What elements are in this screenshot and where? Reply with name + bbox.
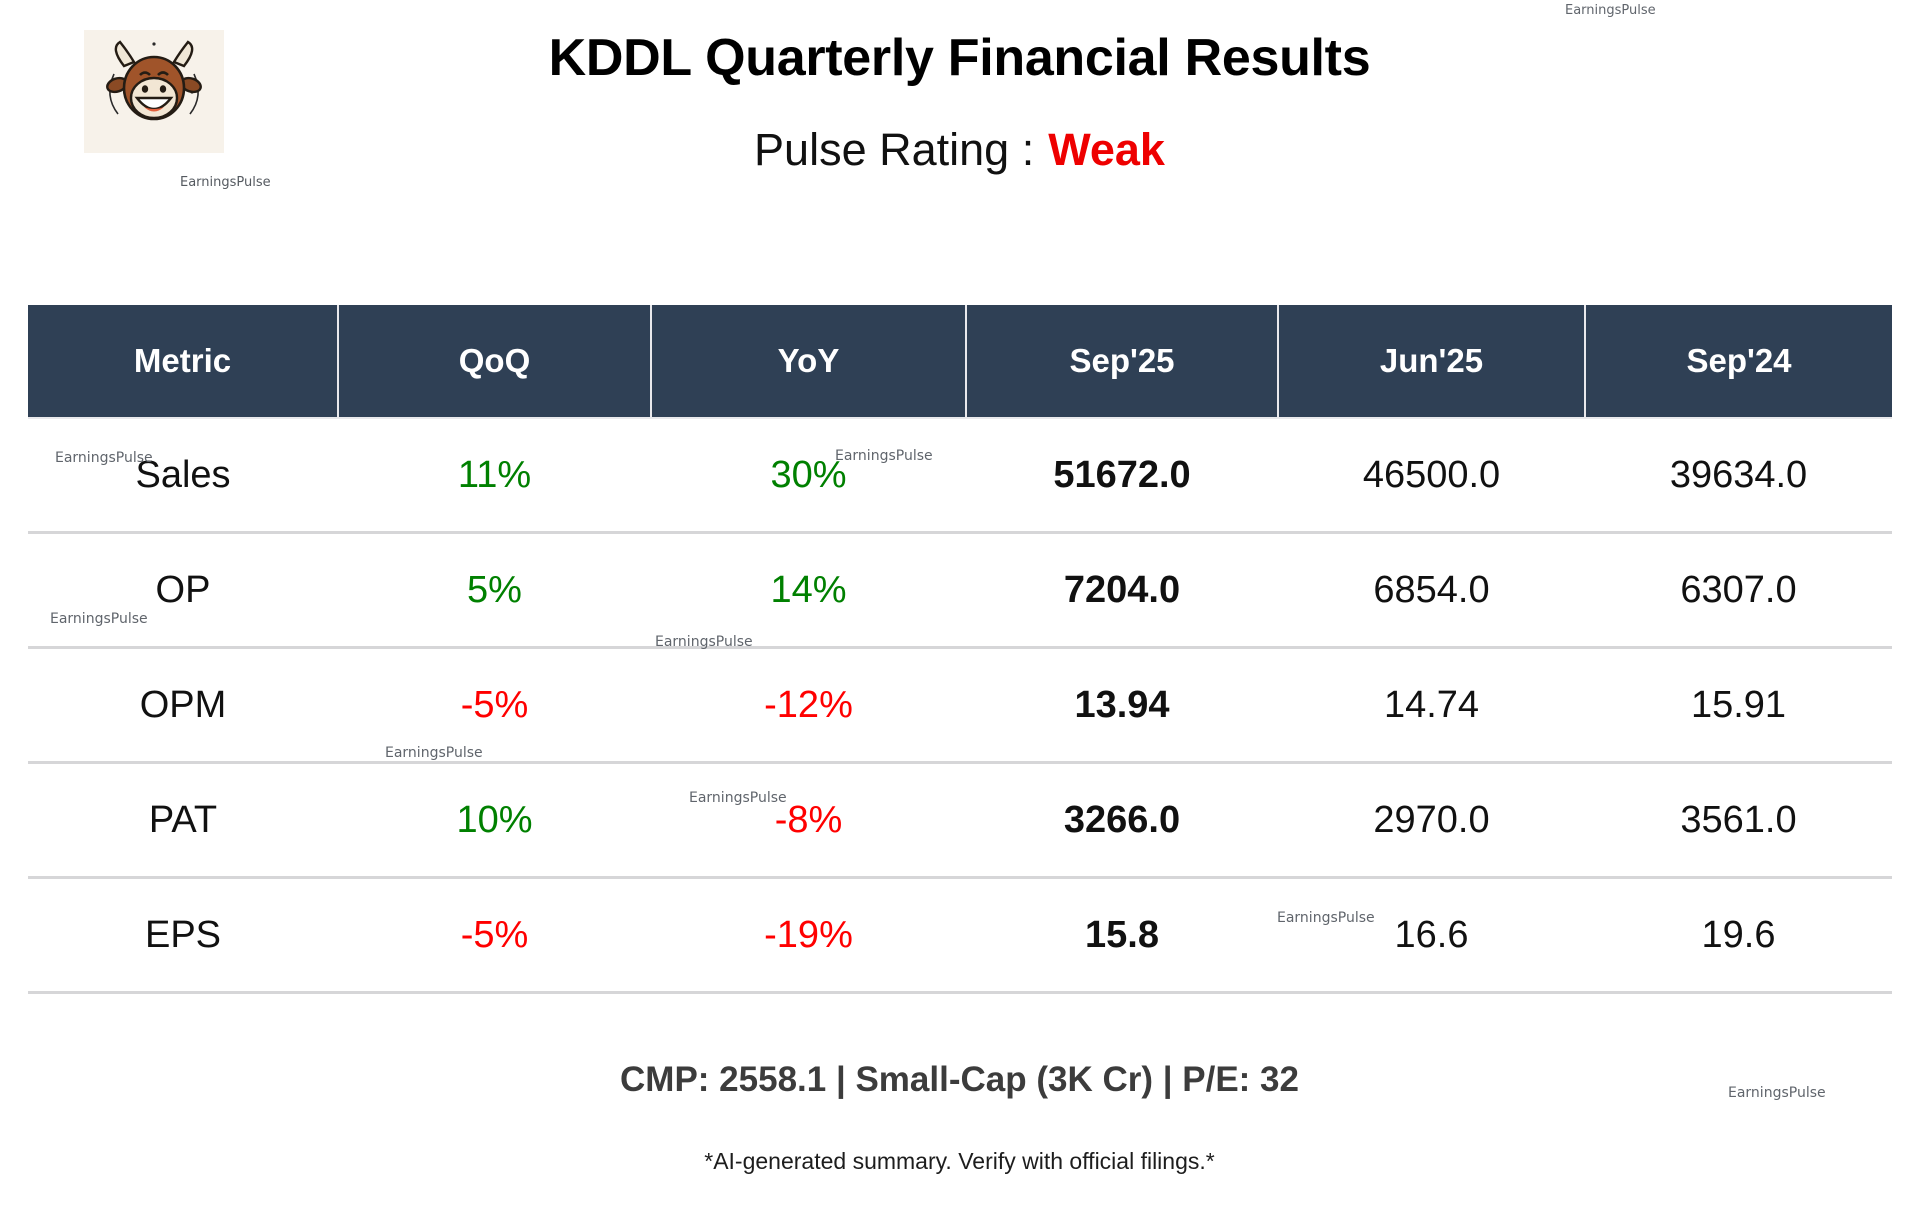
cell-year-ago: 39634.0 — [1585, 418, 1892, 533]
table-header-row: Metric QoQ YoY Sep'25 Jun'25 Sep'24 — [28, 305, 1892, 418]
table-row: EPS -5% -19% 15.8 16.6 19.6 — [28, 878, 1892, 993]
cell-year-ago: 15.91 — [1585, 648, 1892, 763]
cell-current: 7204.0 — [966, 533, 1278, 648]
cell-qoq: 10% — [338, 763, 651, 878]
cell-current: 15.8 — [966, 878, 1278, 993]
cell-previous: 16.6 — [1278, 878, 1585, 993]
column-header-sep25[interactable]: Sep'25 — [966, 305, 1278, 418]
cell-current: 3266.0 — [966, 763, 1278, 878]
table-row: OP 5% 14% 7204.0 6854.0 6307.0 — [28, 533, 1892, 648]
cell-qoq: -5% — [338, 878, 651, 993]
footer-summary: CMP: 2558.1 | Small-Cap (3K Cr) | P/E: 3… — [0, 1060, 1919, 1100]
cell-previous: 46500.0 — [1278, 418, 1585, 533]
pulse-rating-value: Weak — [1048, 124, 1165, 175]
column-header-qoq[interactable]: QoQ — [338, 305, 651, 418]
cell-yoy: -12% — [651, 648, 966, 763]
watermark-0: EarningsPulse — [1565, 3, 1656, 18]
column-header-yoy[interactable]: YoY — [651, 305, 966, 418]
pulse-rating-line: Pulse Rating :Weak — [0, 124, 1919, 176]
cell-metric: OP — [28, 533, 338, 648]
cell-qoq: -5% — [338, 648, 651, 763]
cell-year-ago: 3561.0 — [1585, 763, 1892, 878]
table-row: OPM -5% -12% 13.94 14.74 15.91 — [28, 648, 1892, 763]
cell-qoq: 5% — [338, 533, 651, 648]
cell-yoy: 14% — [651, 533, 966, 648]
cell-metric: OPM — [28, 648, 338, 763]
cell-yoy: 30% — [651, 418, 966, 533]
cell-year-ago: 6307.0 — [1585, 533, 1892, 648]
cell-year-ago: 19.6 — [1585, 878, 1892, 993]
table-row: Sales 11% 30% 51672.0 46500.0 39634.0 — [28, 418, 1892, 533]
cell-qoq: 11% — [338, 418, 651, 533]
cell-previous: 2970.0 — [1278, 763, 1585, 878]
cell-yoy: -8% — [651, 763, 966, 878]
pulse-rating-label: Pulse Rating : — [754, 124, 1034, 175]
cell-previous: 6854.0 — [1278, 533, 1585, 648]
table-row: PAT 10% -8% 3266.0 2970.0 3561.0 — [28, 763, 1892, 878]
cell-current: 13.94 — [966, 648, 1278, 763]
cell-metric: EPS — [28, 878, 338, 993]
cell-current: 51672.0 — [966, 418, 1278, 533]
column-header-sep24[interactable]: Sep'24 — [1585, 305, 1892, 418]
cell-yoy: -19% — [651, 878, 966, 993]
brand-watermark-under-logo: EarningsPulse — [84, 175, 224, 190]
footer-disclaimer: *AI-generated summary. Verify with offic… — [0, 1148, 1919, 1175]
quarterly-results-table: Metric QoQ YoY Sep'25 Jun'25 Sep'24 Sale… — [28, 305, 1892, 994]
page-title: KDDL Quarterly Financial Results — [0, 28, 1919, 88]
cell-metric: Sales — [28, 418, 338, 533]
cell-metric: PAT — [28, 763, 338, 878]
column-header-jun25[interactable]: Jun'25 — [1278, 305, 1585, 418]
column-header-metric[interactable]: Metric — [28, 305, 338, 418]
cell-previous: 14.74 — [1278, 648, 1585, 763]
